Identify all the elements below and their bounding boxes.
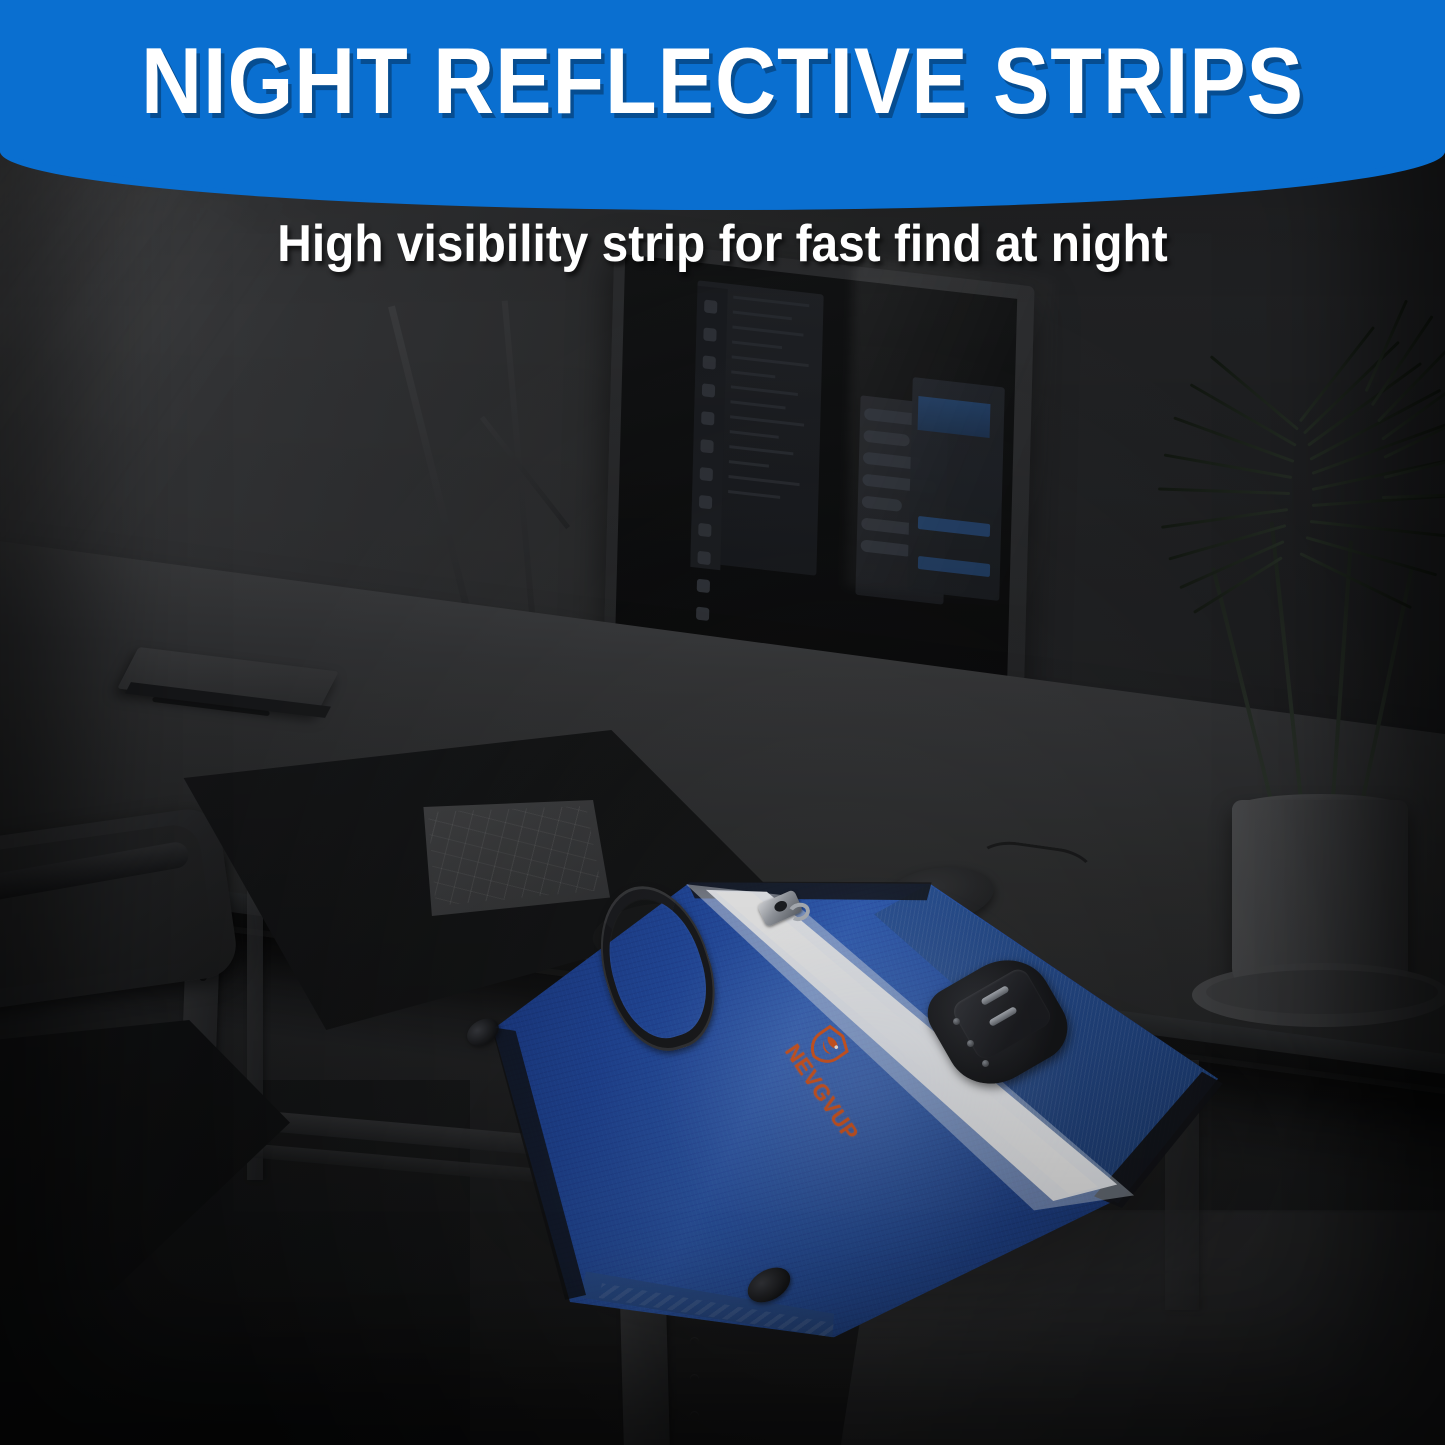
screen-text-lines bbox=[727, 296, 818, 555]
banner-title: NIGHT REFLECTIVE STRIPS bbox=[72, 34, 1373, 128]
wrist-strap bbox=[569, 881, 745, 1055]
product-banner-image: NEVGVUP NIGHT REFLECTIVE STRIPS High vis… bbox=[0, 0, 1445, 1445]
lock-rivet bbox=[967, 1040, 974, 1047]
plant-pot bbox=[1232, 800, 1408, 990]
palm-fronds bbox=[1180, 380, 1445, 830]
screen-glare bbox=[846, 257, 1055, 609]
subtitle: High visibility strip for fast find at n… bbox=[58, 218, 1387, 270]
lock-rivet bbox=[982, 1060, 989, 1067]
wrist-strap-highlight bbox=[582, 872, 732, 1063]
lock-rivet bbox=[953, 1018, 960, 1025]
